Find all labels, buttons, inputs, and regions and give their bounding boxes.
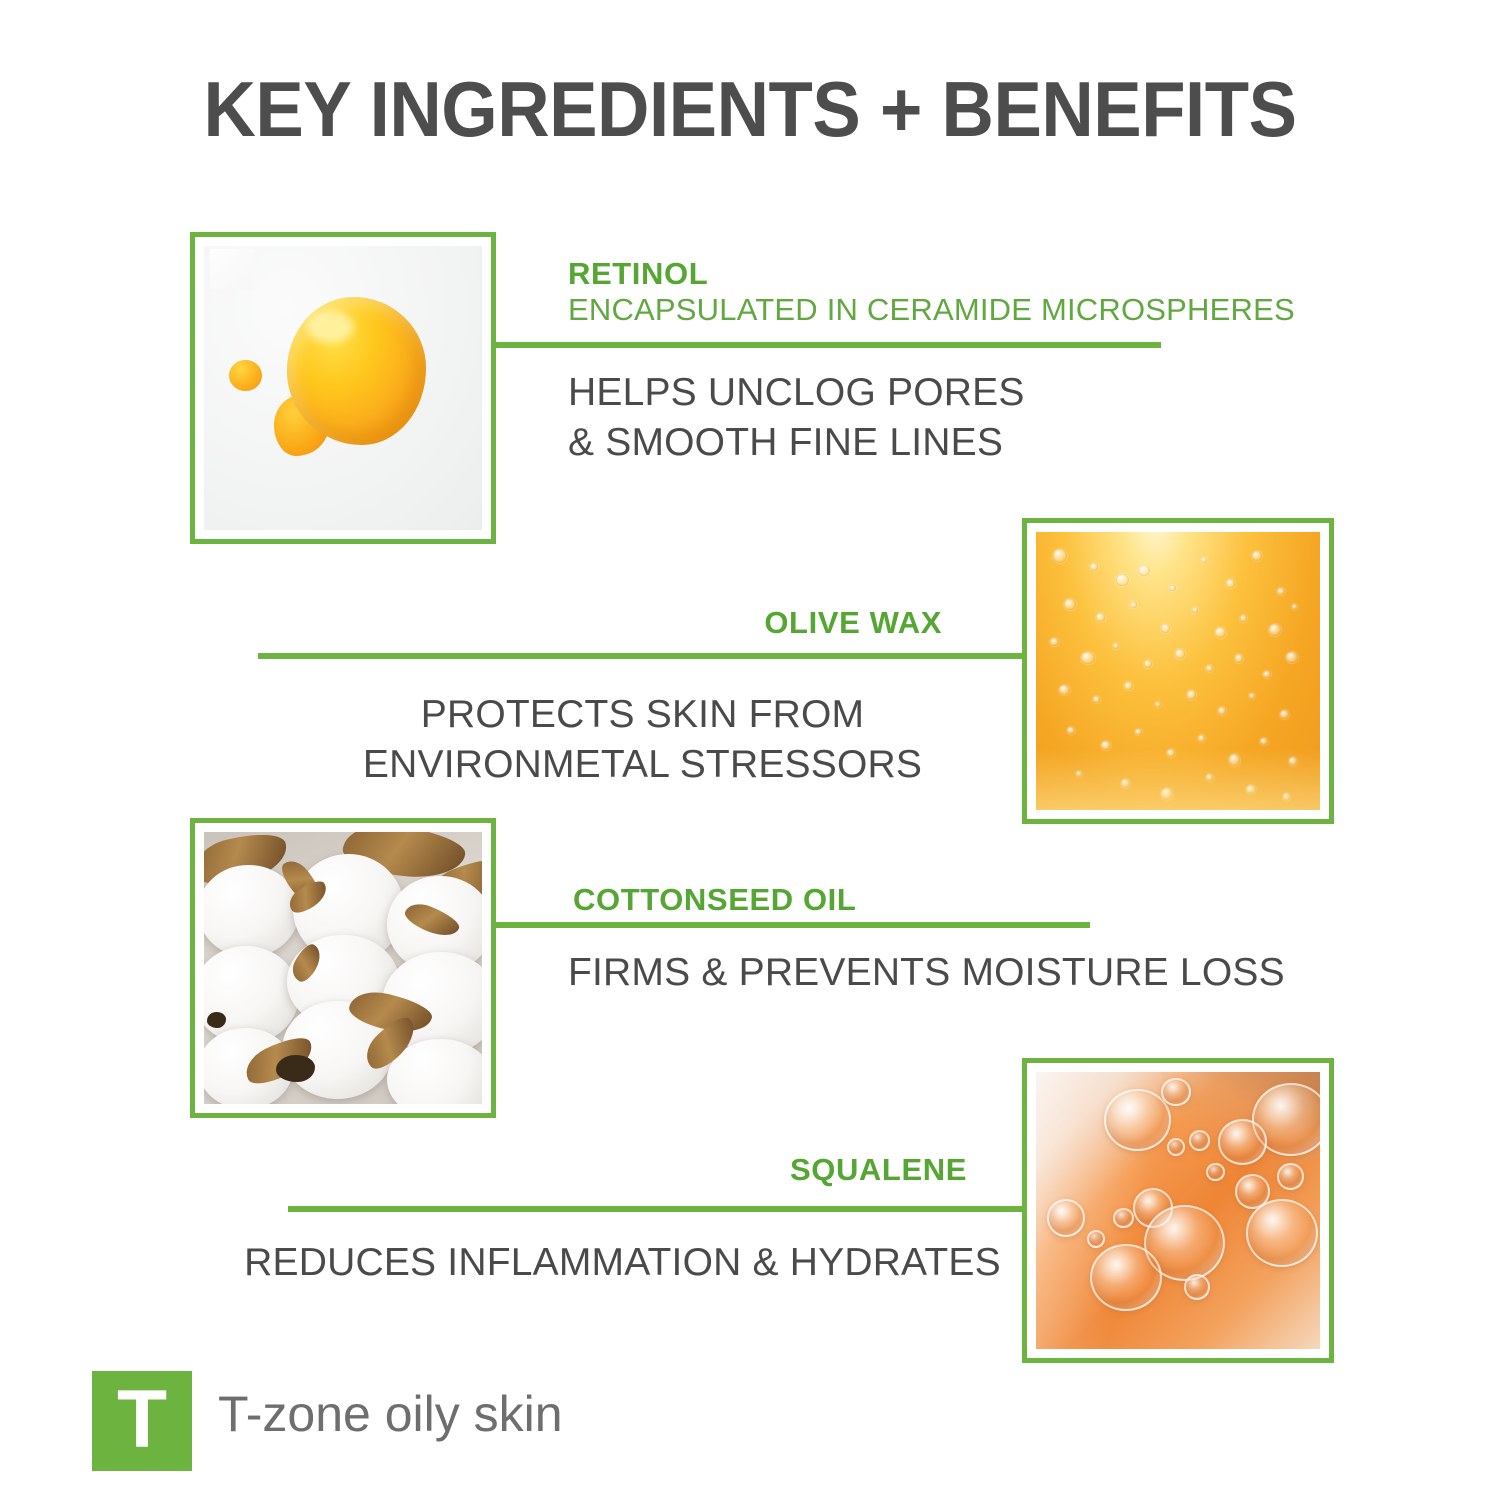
- orange-bubbles-photo: [1036, 1072, 1320, 1349]
- ingredient-benefit-olive-wax: PROTECTS SKIN FROM ENVIRONMETAL STRESSOR…: [258, 690, 1027, 790]
- golden-oil-photo: [1036, 532, 1320, 810]
- badge-letter: T: [92, 1378, 192, 1460]
- cotton-bolls-photo: [204, 832, 482, 1104]
- connector-line-olive-wax: [258, 653, 1027, 659]
- ingredient-benefit-cottonseed-oil: FIRMS & PREVENTS MOISTURE LOSS: [568, 948, 1288, 998]
- connector-line-retinol: [496, 342, 1161, 348]
- connector-line-squalene: [288, 1206, 1027, 1212]
- ingredient-image-squalene: [1022, 1058, 1334, 1363]
- ingredient-image-olive-wax: [1022, 518, 1334, 824]
- oil-droplet-photo: [204, 246, 482, 530]
- ingredient-name-retinol: RETINOL: [568, 258, 708, 289]
- footer-label: T-zone oily skin: [218, 1389, 563, 1439]
- ingredient-subtitle-retinol: ENCAPSULATED IN CERAMIDE MICROSPHERES: [568, 294, 1295, 325]
- ingredient-name-cottonseed-oil: COTTONSEED OIL: [573, 884, 856, 915]
- ingredient-benefit-retinol: HELPS UNCLOG PORES & SMOOTH FINE LINES: [568, 368, 1268, 468]
- ingredient-name-olive-wax: OLIVE WAX: [527, 607, 942, 638]
- ingredient-name-squalene: SQUALENE: [612, 1154, 967, 1185]
- ingredient-benefit-squalene: REDUCES INFLAMMATION & HYDRATES: [218, 1238, 1027, 1288]
- page-title: KEY INGREDIENTS + BENEFITS: [53, 70, 1448, 148]
- infographic-canvas: KEY INGREDIENTS + BENEFITS RETINOL ENCAP…: [0, 0, 1500, 1500]
- t-zone-badge: T: [92, 1371, 192, 1471]
- connector-line-cottonseed-oil: [496, 922, 1090, 928]
- ingredient-image-retinol: [190, 232, 496, 544]
- ingredient-image-cottonseed-oil: [190, 818, 496, 1118]
